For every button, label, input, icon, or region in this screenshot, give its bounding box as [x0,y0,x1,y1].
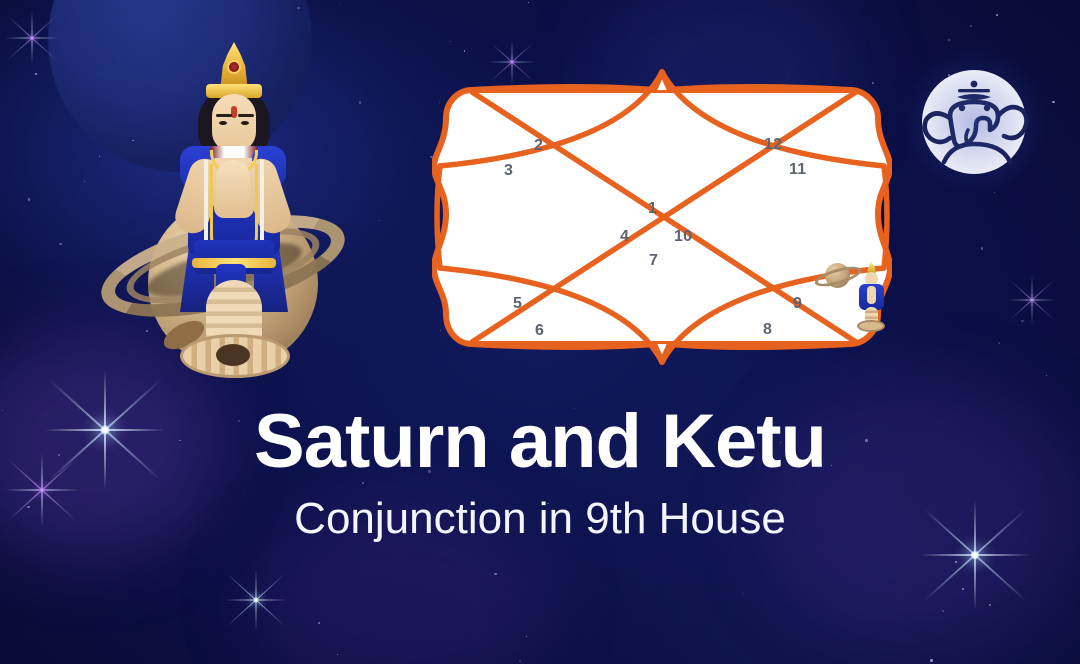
house-number-12: 12 [764,136,782,154]
house-number-2: 2 [534,137,543,155]
house-number-11: 11 [789,161,806,179]
astrology-banner: 123456789101112 Saturn and Ketu Conjunct… [0,0,1080,664]
star-dot [337,654,338,655]
star-dot [1052,101,1054,103]
kundli-chart-svg [432,62,892,372]
star-dot [35,73,37,75]
star-dot [450,41,451,42]
star-dot [970,25,972,27]
star-dot [28,198,30,200]
star-dot [930,659,932,661]
house-number-1: 1 [648,200,657,218]
star-dot [962,588,964,590]
chart-left-pinch [437,166,440,268]
chart-ketu-glyph [854,262,888,332]
star-dot [340,3,341,4]
house-number-3: 3 [504,162,513,180]
chart-right-pinch [884,166,887,268]
star-dot [1021,320,1023,322]
star-dot [318,622,319,623]
page-title: Saturn and Ketu [0,404,1080,480]
star-dot [989,604,991,606]
page-subtitle: Conjunction in 9th House [0,494,1080,544]
ganesha-logo[interactable] [910,58,1038,186]
ketu-deity-icon [158,42,308,372]
house-number-7: 7 [649,252,658,270]
star-dot [955,561,957,563]
title-block: Saturn and Ketu Conjunction in 9th House [0,404,1080,544]
house-number-10: 10 [674,228,692,246]
star-dot [1046,375,1047,376]
star-dot [948,39,950,41]
star-dot [743,593,744,594]
star-dot [494,573,496,575]
star-dot [464,50,466,52]
logo-glow [900,48,1048,196]
star-dot [996,14,998,16]
star-dot [998,342,1000,344]
star-dot [526,636,527,637]
kundli-chart[interactable]: 123456789101112 [432,62,892,372]
star-dot [942,610,944,612]
star-dot [528,2,529,3]
saturn-ketu-artwork [60,42,420,412]
house-number-9: 9 [793,295,802,313]
star-dot [519,660,521,662]
star-dot [981,247,983,249]
house-number-5: 5 [513,295,522,313]
house-number-8: 8 [763,321,772,339]
star-dot [297,7,299,9]
house-number-4: 4 [620,228,629,246]
house-number-6: 6 [535,322,544,340]
